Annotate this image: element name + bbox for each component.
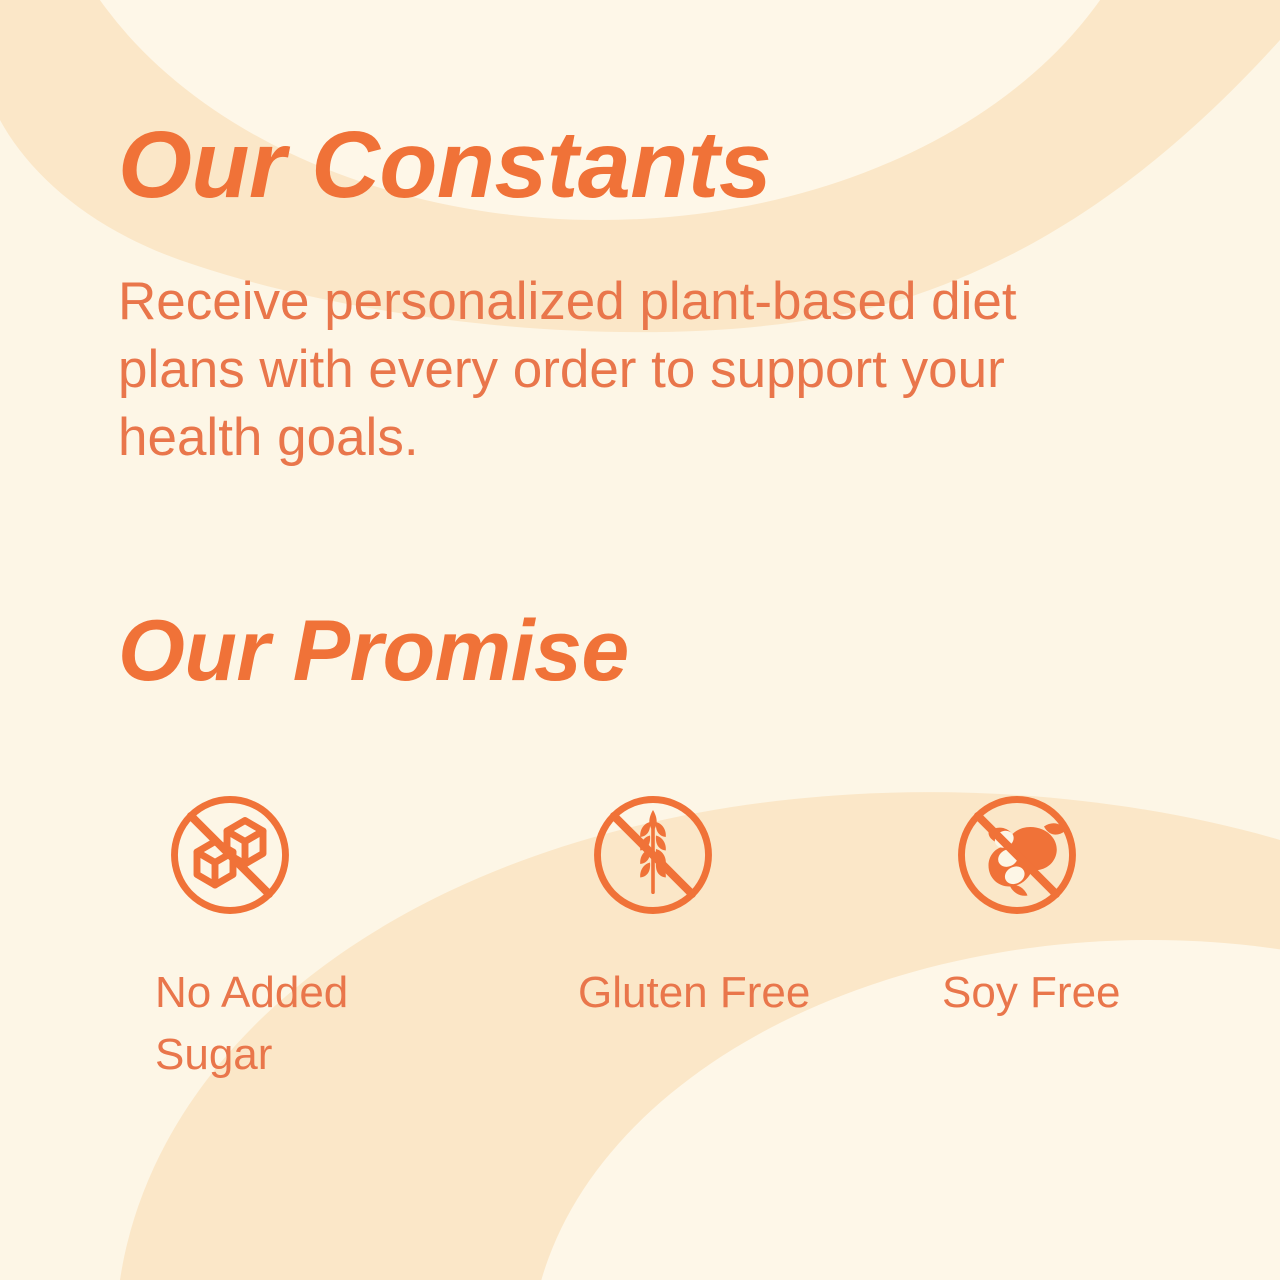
badge-soy-free: Soy Free [942,780,1202,1024]
promo-graphic: Our Constants Receive personalized plant… [0,0,1280,1280]
badge-label-no-added-sugar: No Added Sugar [155,962,415,1087]
badge-label-gluten-free: Gluten Free [578,962,838,1024]
promise-badge-list: No Added Sugar [0,780,1280,1110]
constants-description: Receive personalized plant-based diet pl… [118,268,1158,471]
badge-gluten-free: Gluten Free [578,780,838,1024]
badge-no-added-sugar: No Added Sugar [155,780,415,1087]
badge-label-soy-free: Soy Free [942,962,1202,1024]
no-gluten-icon [578,780,728,930]
page-title-promise: Our Promise [118,608,629,694]
page-title-constants: Our Constants [118,118,771,213]
no-added-sugar-icon [155,780,305,930]
no-soy-icon [942,780,1092,930]
